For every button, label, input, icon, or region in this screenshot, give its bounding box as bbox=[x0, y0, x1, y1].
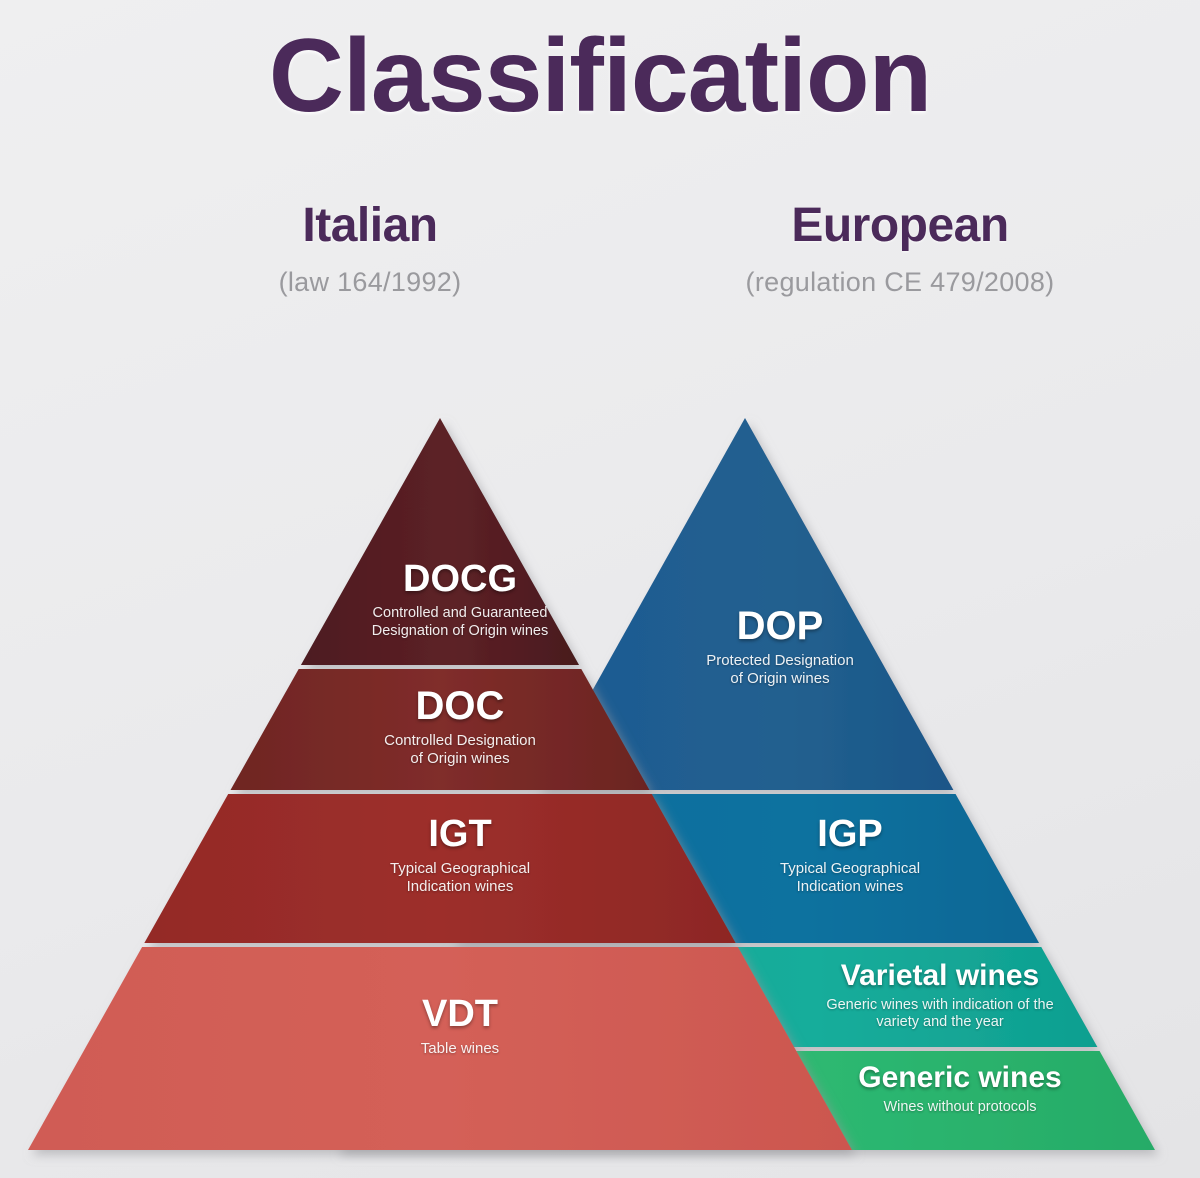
tier-shape-doc[interactable] bbox=[231, 669, 650, 790]
tier-shape-docg[interactable] bbox=[301, 418, 579, 665]
classification-infographic: Classification Italian (law 164/1992) Eu… bbox=[0, 0, 1200, 1178]
tier-shape-vdt[interactable] bbox=[28, 947, 852, 1150]
pyramid-stage bbox=[0, 0, 1200, 1178]
pyramid-graphic bbox=[0, 0, 1200, 1178]
tier-shape-igt[interactable] bbox=[144, 794, 735, 943]
